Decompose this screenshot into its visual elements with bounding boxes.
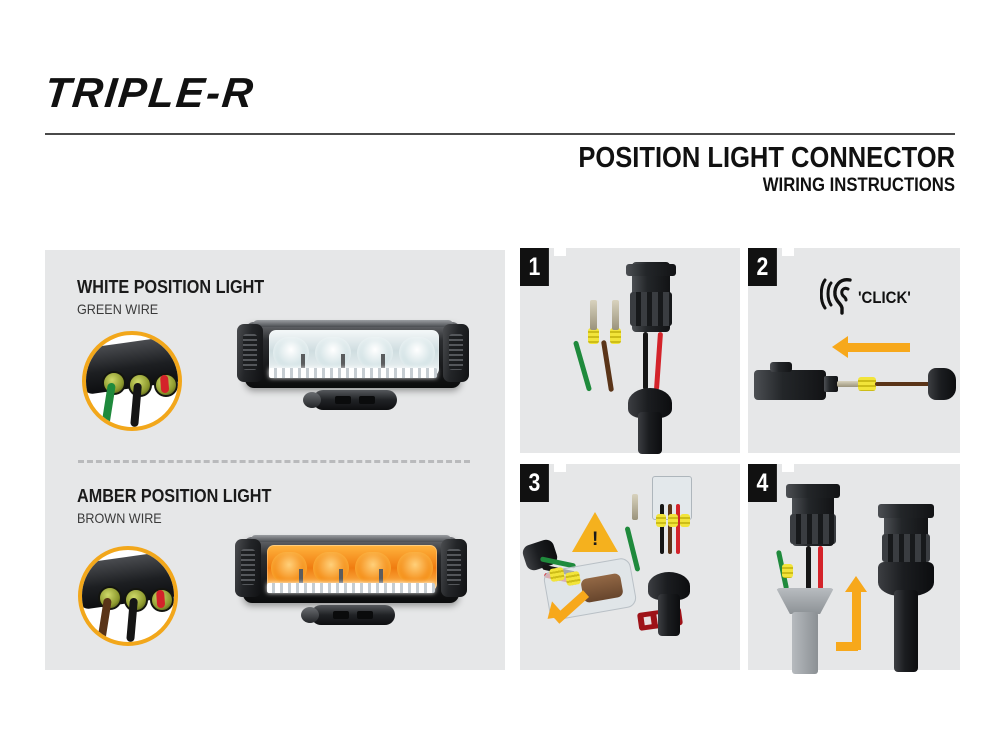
instruction-sheet: TRIPLE-R POSITION LIGHT CONNECTOR WIRING… [0,0,1000,750]
amber-wire-label: BROWN WIRE [77,510,162,526]
click-label: 'CLICK' [858,288,911,308]
step-1-badge: 1 [520,248,549,286]
step-2-panel: 2 'CLICK' [748,248,960,453]
amber-position-light-title: AMBER POSITION LIGHT [77,486,271,507]
step-4-badge: 4 [748,464,777,502]
white-position-light-title: WHITE POSITION LIGHT [77,277,264,298]
led-light-bar-white-icon [235,318,471,418]
step-4-panel: 4 [748,464,960,670]
step-1-panel: 1 [520,248,740,453]
section-divider [78,460,470,463]
led-light-bar-amber-icon [233,533,469,633]
page-title: POSITION LIGHT CONNECTOR [578,143,955,173]
header-title-block: POSITION LIGHT CONNECTOR WIRING INSTRUCT… [527,143,955,197]
header-divider [45,133,955,135]
page-subtitle: WIRING INSTRUCTIONS [578,176,955,197]
step-2-badge: 2 [748,248,777,286]
amber-connector-closeup-icon [78,546,178,646]
step-3-badge: 3 [520,464,549,502]
white-wire-label: GREEN WIRE [77,301,158,317]
triple-r-logo: TRIPLE-R [43,72,257,114]
white-connector-closeup-icon [82,331,182,431]
step-3-panel: 3 ! [520,464,740,670]
